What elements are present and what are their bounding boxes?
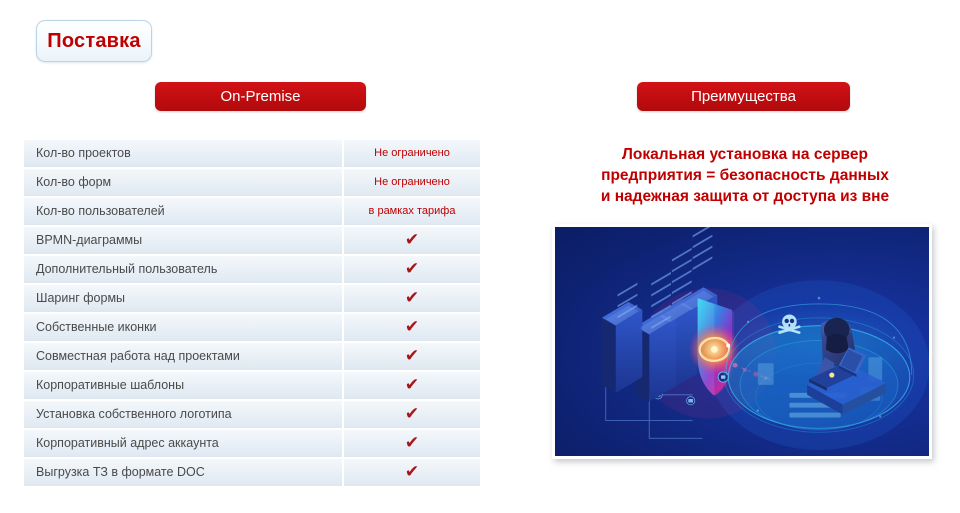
- feature-name-cell: Установка собственного логотипа: [24, 401, 342, 428]
- feature-name-label: Собственные иконки: [36, 321, 157, 334]
- isometric-server-security-illustration: [555, 227, 929, 456]
- table-row: Дополнительный пользователь✔: [24, 256, 480, 283]
- feature-value-cell: ✔: [342, 430, 480, 457]
- check-icon: ✔: [405, 260, 419, 277]
- feature-name-cell: Шаринг формы: [24, 285, 342, 312]
- feature-value-cell: ✔: [342, 459, 480, 486]
- feature-name-label: Выгрузка ТЗ в формате DOC: [36, 466, 205, 479]
- feature-name-cell: Кол-во форм: [24, 169, 342, 196]
- feature-name-label: Установка собственного логотипа: [36, 408, 232, 421]
- benefits-heading-line: Локальная установка на сервер: [552, 144, 938, 165]
- table-row: Установка собственного логотипа✔: [24, 401, 480, 428]
- illustration-frame: [552, 224, 932, 459]
- feature-name-label: Кол-во проектов: [36, 147, 131, 160]
- feature-value-cell: ✔: [342, 256, 480, 283]
- check-icon: ✔: [405, 405, 419, 422]
- table-row: BPMN-диаграммы✔: [24, 227, 480, 254]
- benefits-heading-line: предприятия = безопасность данных: [552, 165, 938, 186]
- feature-value-label: в рамках тарифа: [369, 206, 456, 217]
- feature-value-cell: в рамках тарифа: [342, 198, 480, 225]
- check-icon: ✔: [405, 231, 419, 248]
- table-row: Совместная работа над проектами✔: [24, 343, 480, 370]
- check-icon: ✔: [405, 347, 419, 364]
- feature-name-cell: BPMN-диаграммы: [24, 227, 342, 254]
- feature-value-cell: Не ограничено: [342, 140, 480, 167]
- feature-name-cell: Совместная работа над проектами: [24, 343, 342, 370]
- table-row: Корпоративный адрес аккаунта✔: [24, 430, 480, 457]
- feature-name-cell: Кол-во проектов: [24, 140, 342, 167]
- feature-name-label: Корпоративный адрес аккаунта: [36, 437, 219, 450]
- check-icon: ✔: [405, 376, 419, 393]
- header-pill-on-premise[interactable]: On-Premise: [155, 82, 366, 111]
- table-row: Шаринг формы✔: [24, 285, 480, 312]
- benefits-heading: Локальная установка на серверпредприятия…: [552, 144, 938, 207]
- feature-value-cell: ✔: [342, 401, 480, 428]
- check-icon: ✔: [405, 434, 419, 451]
- slide-tab-label: Поставка: [47, 31, 140, 51]
- feature-name-label: Кол-во пользователей: [36, 205, 165, 218]
- feature-name-label: Корпоративные шаблоны: [36, 379, 184, 392]
- header-pill-on-premise-label: On-Premise: [220, 89, 300, 104]
- feature-name-cell: Корпоративный адрес аккаунта: [24, 430, 342, 457]
- check-icon: ✔: [405, 463, 419, 480]
- feature-name-cell: Корпоративные шаблоны: [24, 372, 342, 399]
- header-pill-benefits[interactable]: Преимущества: [637, 82, 850, 111]
- feature-table: Кол-во проектовНе ограниченоКол-во формН…: [24, 140, 480, 488]
- feature-name-label: Совместная работа над проектами: [36, 350, 240, 363]
- table-row: Кол-во формНе ограничено: [24, 169, 480, 196]
- table-row: Корпоративные шаблоны✔: [24, 372, 480, 399]
- feature-name-label: Дополнительный пользователь: [36, 263, 217, 276]
- check-icon: ✔: [405, 289, 419, 306]
- table-row: Собственные иконки✔: [24, 314, 480, 341]
- feature-value-label: Не ограничено: [374, 148, 450, 159]
- header-pill-benefits-label: Преимущества: [691, 89, 796, 104]
- feature-value-cell: ✔: [342, 227, 480, 254]
- feature-name-cell: Кол-во пользователей: [24, 198, 342, 225]
- table-row: Кол-во пользователейв рамках тарифа: [24, 198, 480, 225]
- feature-name-label: Кол-во форм: [36, 176, 111, 189]
- feature-value-cell: ✔: [342, 372, 480, 399]
- check-icon: ✔: [405, 318, 419, 335]
- feature-name-label: BPMN-диаграммы: [36, 234, 142, 247]
- feature-value-label: Не ограничено: [374, 177, 450, 188]
- table-row: Кол-во проектовНе ограничено: [24, 140, 480, 167]
- benefits-heading-line: и надежная защита от доступа из вне: [552, 186, 938, 207]
- feature-value-cell: Не ограничено: [342, 169, 480, 196]
- slide-tab-postavka[interactable]: Поставка: [36, 20, 152, 62]
- feature-name-cell: Дополнительный пользователь: [24, 256, 342, 283]
- feature-value-cell: ✔: [342, 314, 480, 341]
- feature-value-cell: ✔: [342, 343, 480, 370]
- feature-name-label: Шаринг формы: [36, 292, 125, 305]
- feature-name-cell: Выгрузка ТЗ в формате DOC: [24, 459, 342, 486]
- feature-name-cell: Собственные иконки: [24, 314, 342, 341]
- table-row: Выгрузка ТЗ в формате DOC✔: [24, 459, 480, 486]
- feature-value-cell: ✔: [342, 285, 480, 312]
